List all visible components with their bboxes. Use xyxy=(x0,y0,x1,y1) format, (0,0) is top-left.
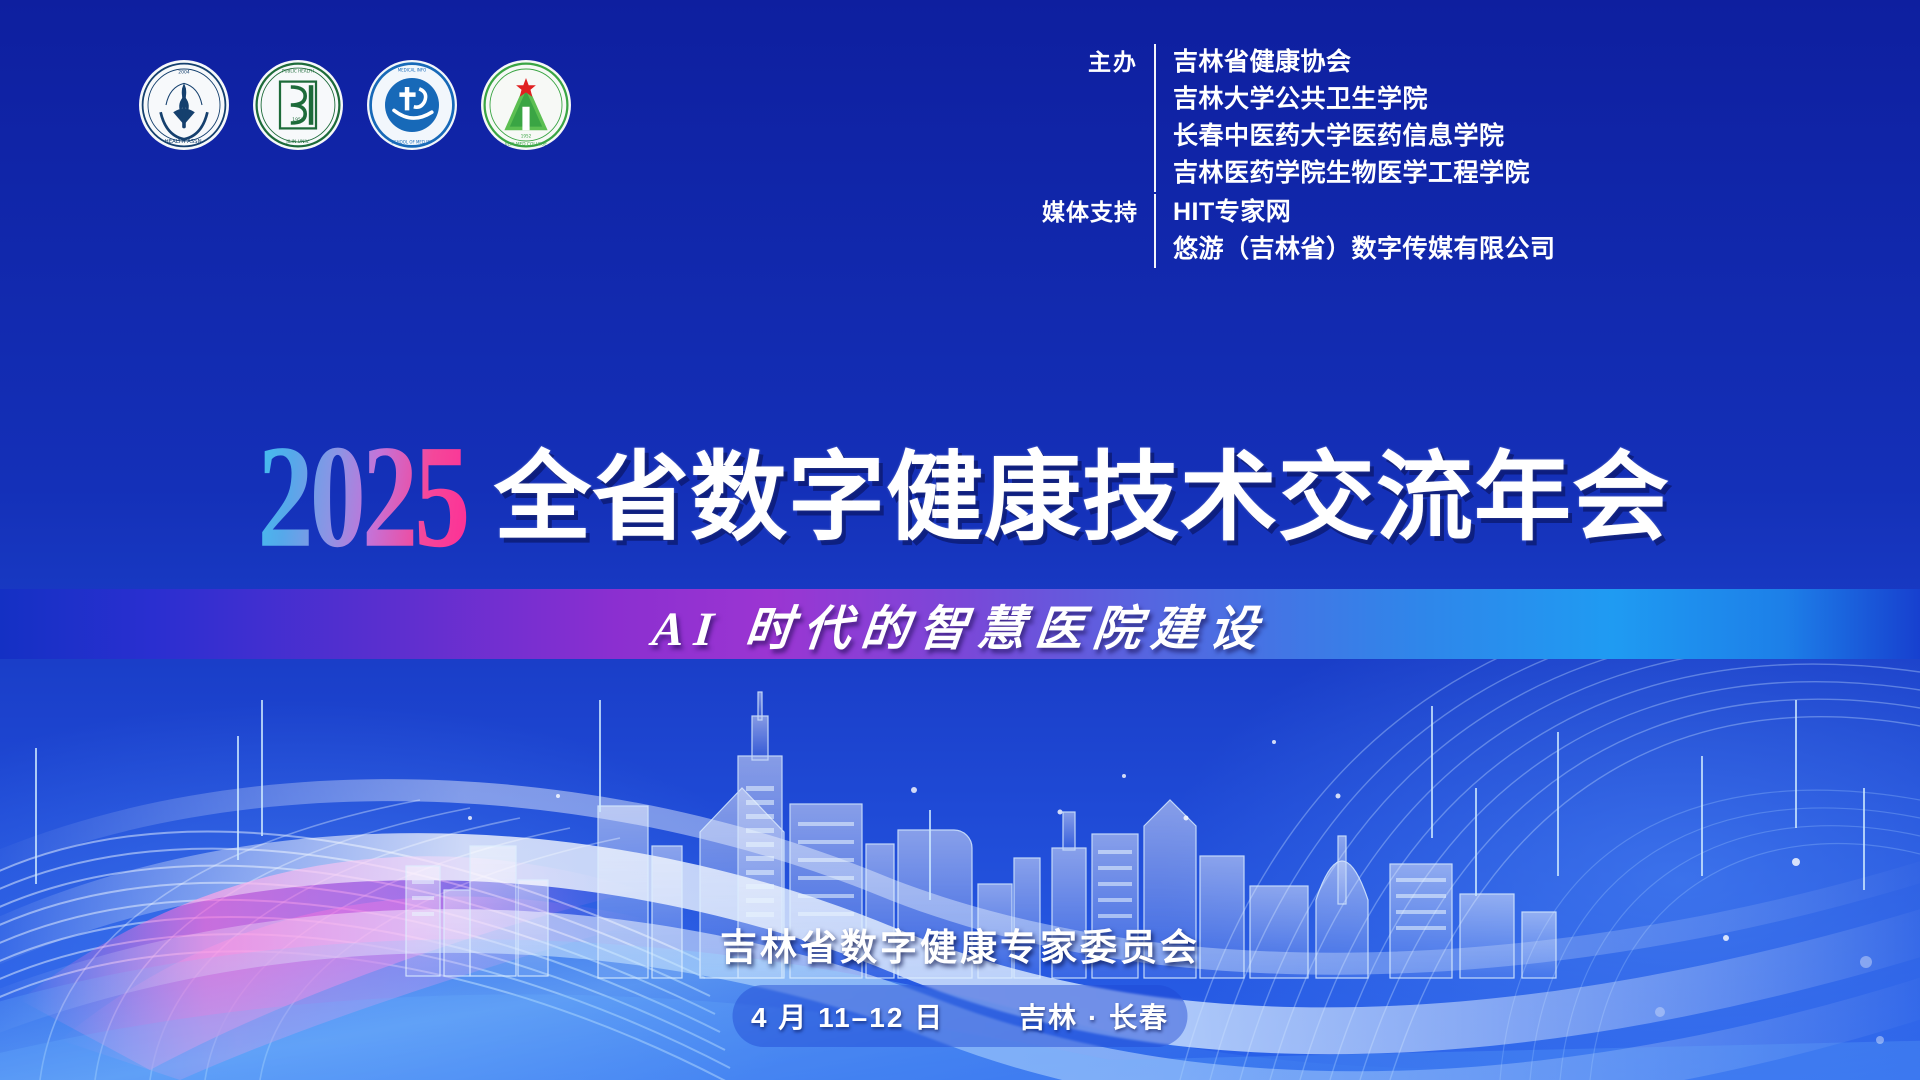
sponsor-value: 长春中医药大学医药信息学院 xyxy=(1173,118,1530,155)
svg-text:SCHOOL OF MED INF: SCHOOL OF MED INF xyxy=(391,140,433,145)
sponsor-label-host: 主办 xyxy=(1012,44,1154,81)
jilin-medical-college-emblem: 1952 JILIN MED COLLEGE xyxy=(481,60,571,150)
sponsor-row-media: 媒体支持 HIT专家网 悠游（吉林省）数字传媒有限公司 xyxy=(1012,194,1556,268)
jilin-university-public-health-emblem: 1958 PUBLIC HEALTH JILIN UNIV. xyxy=(253,60,343,150)
sponsor-divider xyxy=(1154,44,1156,192)
logo-jilin-university-public-health: 1958 PUBLIC HEALTH JILIN UNIV. xyxy=(253,60,343,150)
logo-jilin-health-association: 2004 HEALTH ASSN. xyxy=(139,60,229,150)
sponsor-divider xyxy=(1154,194,1156,268)
poster-canvas: 2004 HEALTH ASSN. 1958 PUBLIC HEALTH JIL… xyxy=(0,0,1920,1080)
date-location-pill: 4 月 11–12 日 吉林 · 长春 xyxy=(733,985,1188,1047)
sponsor-label-media: 媒体支持 xyxy=(1012,194,1154,231)
sponsor-value: 悠游（吉林省）数字传媒有限公司 xyxy=(1173,231,1556,268)
svg-text:2004: 2004 xyxy=(178,70,190,76)
sponsor-value: 吉林省健康协会 xyxy=(1173,44,1530,81)
organizing-committee: 吉林省数字健康专家委员会 xyxy=(0,917,1920,971)
svg-text:MEDICAL INFO: MEDICAL INFO xyxy=(398,68,427,73)
sponsor-values-media: HIT专家网 悠游（吉林省）数字传媒有限公司 xyxy=(1156,194,1556,268)
svg-text:HEALTH ASSN.: HEALTH ASSN. xyxy=(165,139,204,145)
event-date: 4 月 11–12 日 xyxy=(751,996,944,1036)
sponsor-value: 吉林大学公共卫生学院 xyxy=(1173,81,1530,118)
logo-changchun-medical-information: MEDICAL INFO SCHOOL OF MED INF xyxy=(367,60,457,150)
organizer-logo-strip: 2004 HEALTH ASSN. 1958 PUBLIC HEALTH JIL… xyxy=(139,60,571,150)
changchun-medical-information-emblem: MEDICAL INFO SCHOOL OF MED INF xyxy=(367,60,457,150)
svg-text:1958: 1958 xyxy=(292,117,304,123)
title-year: 2025 xyxy=(256,423,469,571)
subtitle-band: AI 时代的智慧医院建设 xyxy=(0,589,1920,659)
sponsor-value: 吉林医药学院生物医学工程学院 xyxy=(1173,155,1530,192)
event-location: 吉林 · 长春 xyxy=(1018,996,1169,1036)
sponsor-value: HIT专家网 xyxy=(1173,194,1556,231)
sponsor-credits: 主办 吉林省健康协会 吉林大学公共卫生学院 长春中医药大学医药信息学院 吉林医药… xyxy=(1012,44,1556,268)
page-title: 全省数字健康技术交流年会 xyxy=(494,449,1670,546)
sponsor-row-host: 主办 吉林省健康协会 吉林大学公共卫生学院 长春中医药大学医药信息学院 吉林医药… xyxy=(1012,44,1556,192)
svg-text:PUBLIC HEALTH: PUBLIC HEALTH xyxy=(282,69,314,74)
jilin-health-association-emblem: 2004 HEALTH ASSN. xyxy=(139,60,229,150)
svg-text:JILIN UNIV.: JILIN UNIV. xyxy=(285,139,309,145)
sponsor-values-host: 吉林省健康协会 吉林大学公共卫生学院 长春中医药大学医药信息学院 吉林医药学院生… xyxy=(1156,44,1530,192)
logo-jilin-medical-college: 1952 JILIN MED COLLEGE xyxy=(481,60,571,150)
main-title-row: 2025 全省数字健康技术交流年会 xyxy=(0,432,1920,562)
svg-text:JILIN MED COLLEGE: JILIN MED COLLEGE xyxy=(504,142,547,148)
subtitle-text: AI 时代的智慧医院建设 xyxy=(649,589,1271,659)
svg-text:1952: 1952 xyxy=(521,133,532,138)
